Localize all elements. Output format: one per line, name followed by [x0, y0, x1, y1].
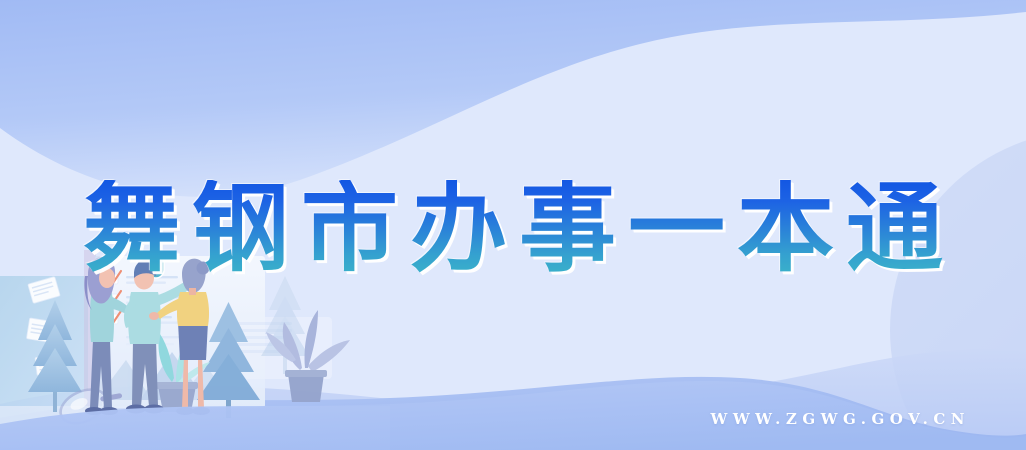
banner-title-block: 舞钢市办事一本通	[0, 168, 1026, 288]
site-url: WWW.ZGWG.GOV.CN	[710, 410, 970, 428]
page-title: 舞钢市办事一本通	[71, 180, 955, 277]
banner-root: 舞钢市办事一本通 WWW.ZGWG.GOV.CN	[0, 0, 1026, 450]
